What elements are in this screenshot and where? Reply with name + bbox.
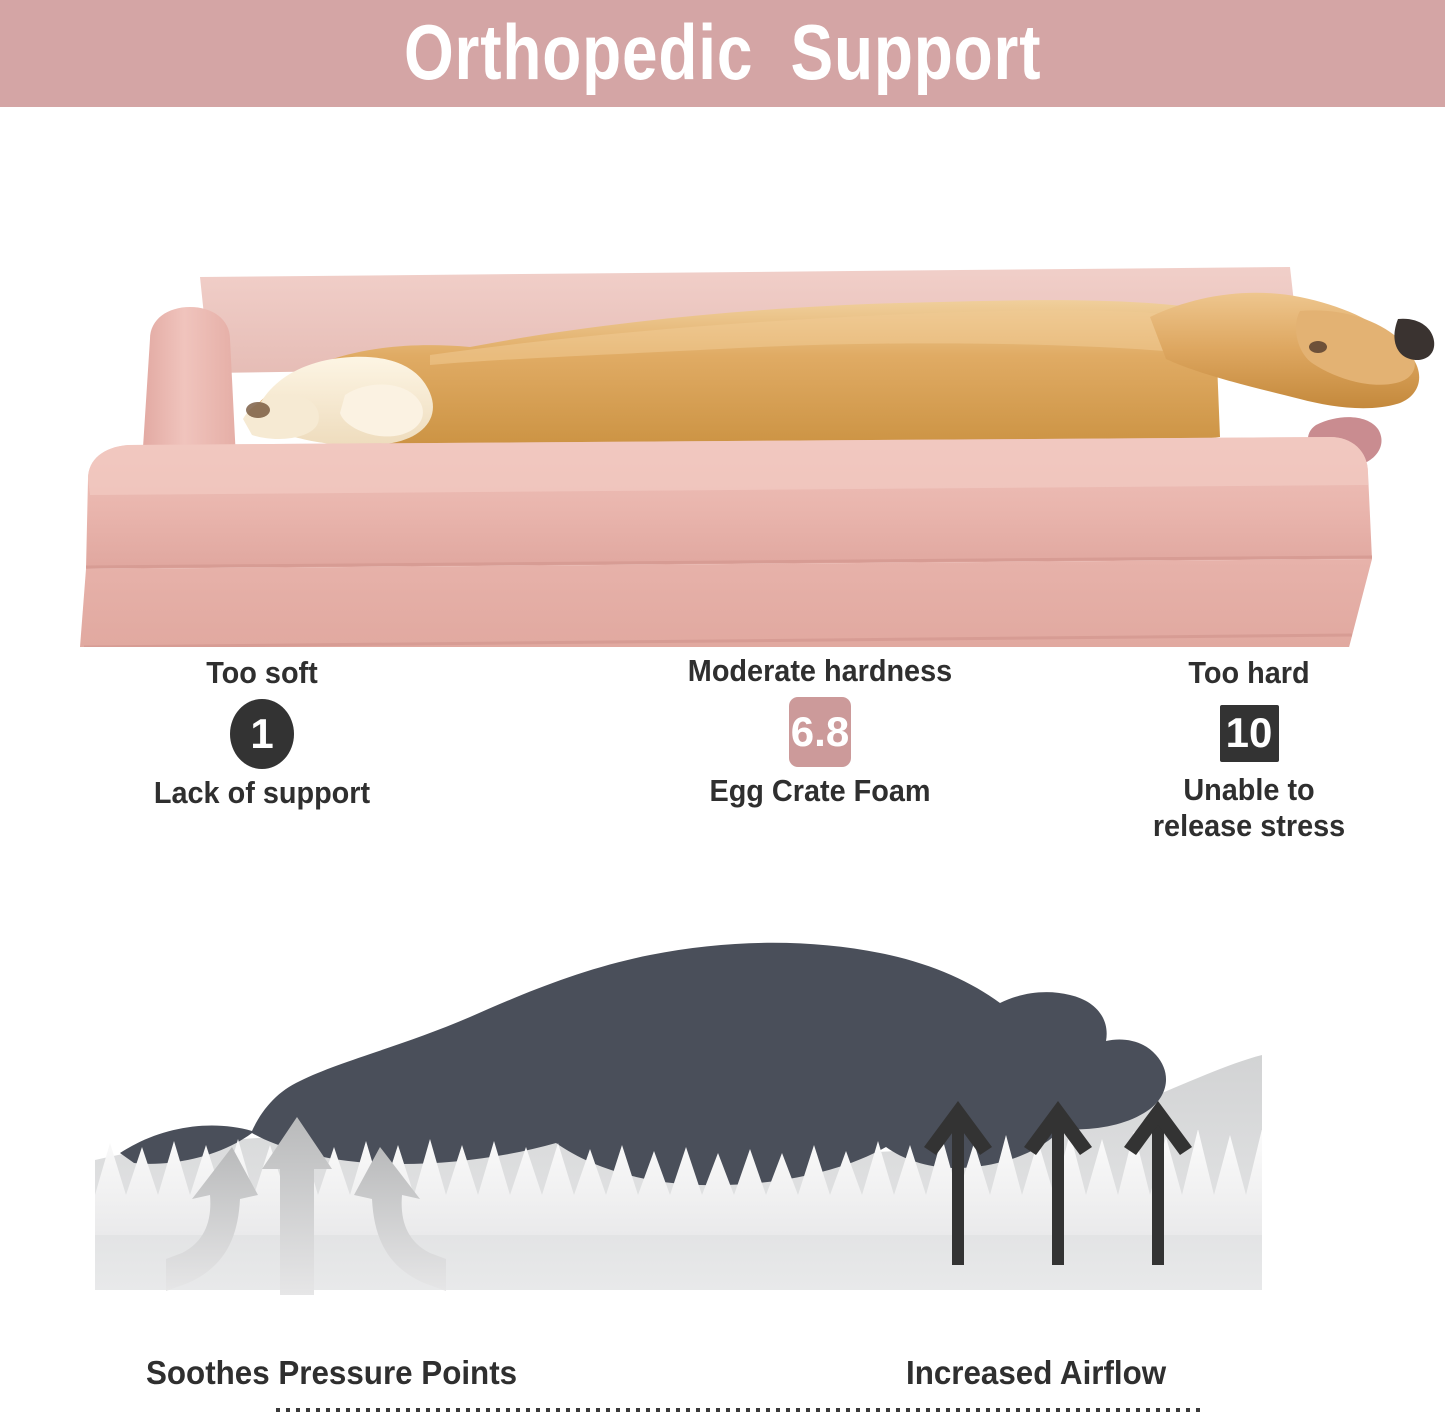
scale-node-bottom-label-line2: release stress (1077, 808, 1421, 845)
scale-node-bottom-label: Egg Crate Foam (660, 773, 980, 810)
scale-node-too-hard: Too hard 10 Unable to release stress (1064, 655, 1434, 845)
bed-cushion-highlight (88, 437, 1368, 495)
scale-node-bottom-label-line1: Unable to (1077, 772, 1421, 809)
caption-soothes-pressure-points: Soothes Pressure Points (146, 1355, 517, 1391)
scale-node-top-label: Moderate hardness (660, 653, 980, 689)
caption-increased-airflow: Increased Airflow (906, 1355, 1166, 1391)
hardness-scale: Too soft 1 Lack of support Moderate hard… (0, 655, 1445, 895)
product-photo-illustration (0, 107, 1445, 647)
foam-diagram-illustration (0, 895, 1445, 1397)
header-banner: Orthopedic Support (0, 0, 1445, 107)
page-title: Orthopedic Support (404, 13, 1041, 91)
scale-node-too-soft: Too soft 1 Lack of support (92, 655, 432, 811)
bed-bolster (142, 307, 236, 463)
product-photo (0, 107, 1445, 647)
scale-badge-1: 1 (230, 699, 294, 769)
scale-node-top-label: Too hard (1077, 655, 1421, 691)
scale-node-bottom-label: Lack of support (104, 775, 420, 812)
bed-base (78, 559, 1372, 647)
scale-badge-10: 10 (1220, 705, 1279, 762)
scale-badge-6-8: 6.8 (789, 697, 851, 767)
scale-node-moderate: Moderate hardness 6.8 Egg Crate Foam (648, 653, 992, 809)
scale-node-top-label: Too soft (104, 655, 420, 691)
scale-dotted-line (276, 1408, 1204, 1412)
foam-diagram (0, 895, 1445, 1397)
